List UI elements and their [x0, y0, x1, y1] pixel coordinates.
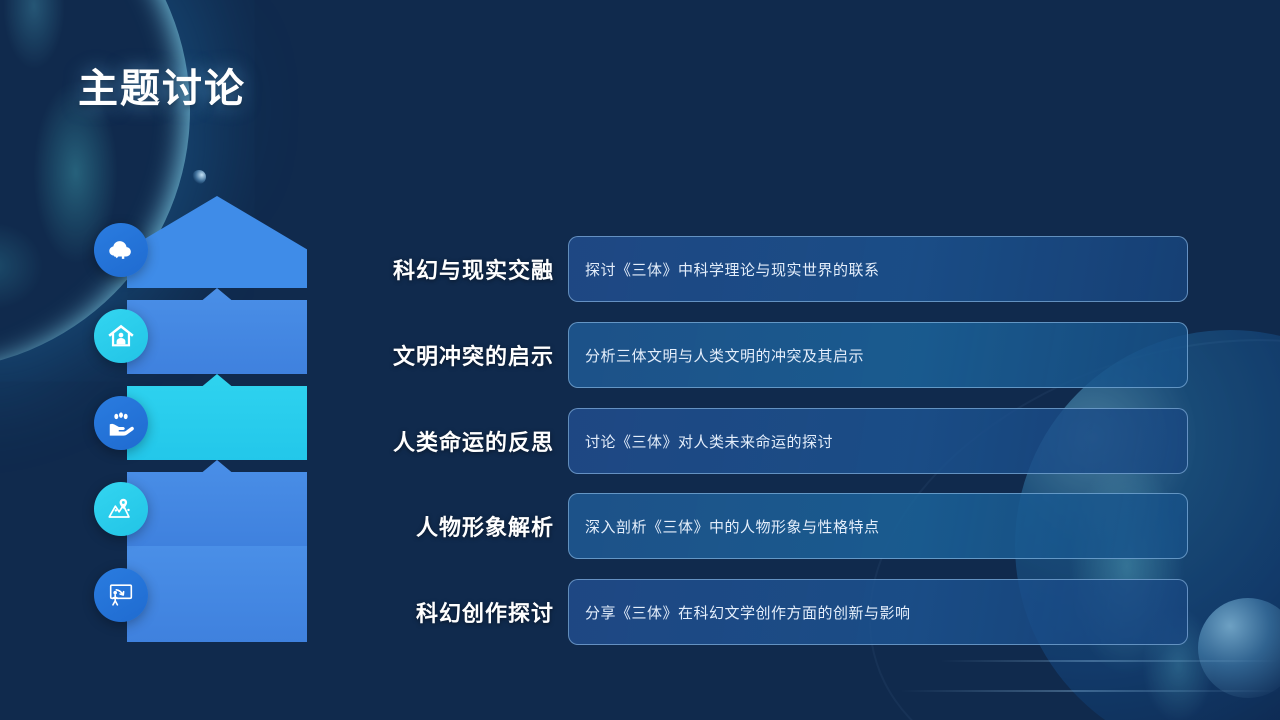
upward-arrow-infographic [127, 196, 307, 642]
icon-badge-2[interactable] [94, 309, 148, 363]
presenter-board-icon [106, 580, 136, 610]
item-description-box[interactable]: 探讨《三体》中科学理论与现实世界的联系 [568, 236, 1188, 302]
arrow-segment-1 [127, 288, 307, 374]
light-streak [940, 660, 1280, 662]
icon-badge-5[interactable] [94, 568, 148, 622]
icon-badge-1[interactable] [94, 223, 148, 277]
arrow-segment-2 [127, 374, 307, 460]
item-title: 人类命运的反思 [380, 425, 568, 457]
arrow-head [127, 196, 307, 288]
item-title: 科幻创作探讨 [380, 596, 568, 628]
item-description-box[interactable]: 分享《三体》在科幻文学创作方面的创新与影响 [568, 579, 1188, 645]
item-title: 科幻与现实交融 [380, 253, 568, 285]
map-location-icon [106, 494, 136, 524]
list-item[interactable]: 科幻创作探讨 分享《三体》在科幻文学创作方面的创新与影响 [380, 579, 1188, 645]
small-moon-icon [192, 170, 206, 184]
icon-badge-4[interactable] [94, 482, 148, 536]
list-item[interactable]: 科幻与现实交融 探讨《三体》中科学理论与现实世界的联系 [380, 236, 1188, 302]
item-description-box[interactable]: 深入剖析《三体》中的人物形象与性格特点 [568, 493, 1188, 559]
cloud-sync-icon [106, 235, 136, 265]
list-item[interactable]: 文明冲突的启示 分析三体文明与人类文明的冲突及其启示 [380, 322, 1188, 388]
hand-coins-icon [106, 408, 136, 438]
arrow-segment-4 [127, 546, 307, 642]
icon-badge-3[interactable] [94, 396, 148, 450]
item-description-box[interactable]: 分析三体文明与人类文明的冲突及其启示 [568, 322, 1188, 388]
item-title: 文明冲突的启示 [380, 339, 568, 371]
item-description-box[interactable]: 讨论《三体》对人类未来命运的探讨 [568, 408, 1188, 474]
light-streak [900, 690, 1280, 692]
house-person-icon [106, 321, 136, 351]
presentation-slide: 主题讨论 [0, 0, 1280, 720]
page-title: 主题讨论 [78, 56, 246, 114]
list-item[interactable]: 人类命运的反思 讨论《三体》对人类未来命运的探讨 [380, 408, 1188, 474]
list-item[interactable]: 人物形象解析 深入剖析《三体》中的人物形象与性格特点 [380, 493, 1188, 559]
item-title: 人物形象解析 [380, 510, 568, 542]
arrow-segment-3 [127, 460, 307, 546]
